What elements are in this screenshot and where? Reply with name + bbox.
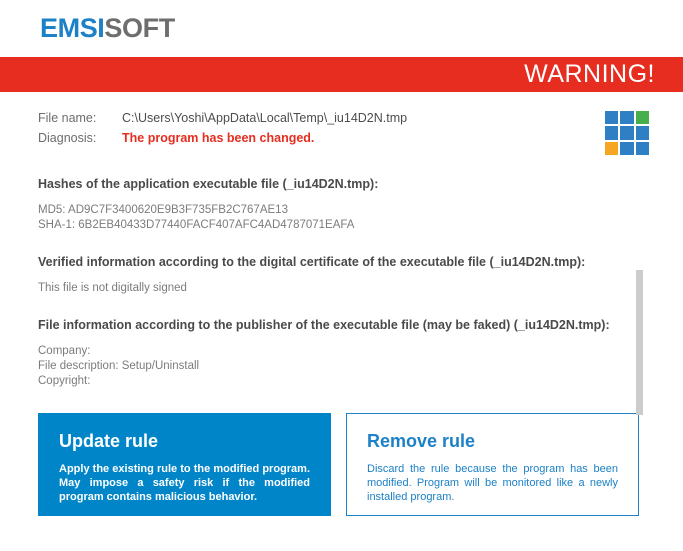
file-summary: File name: C:\Users\Yoshi\AppData\Local\… [0,92,683,155]
windows-tiles-icon [605,111,649,155]
warning-banner-label: WARNING! [524,62,655,87]
certificate-section: Verified information according to the di… [0,255,683,296]
remove-rule-button[interactable]: Remove rule Discard the rule because the… [346,413,639,516]
warning-banner: WARNING! [0,57,683,92]
logo-text-secondary: SOFT [104,13,174,43]
update-rule-button[interactable]: Update rule Apply the existing rule to t… [38,413,331,516]
logo-text-primary: EMSI [40,13,104,43]
file-name-row: File name: C:\Users\Yoshi\AppData\Local\… [38,109,605,127]
action-buttons: Update rule Apply the existing rule to t… [0,389,683,516]
diagnosis-label: Diagnosis: [38,129,122,147]
remove-rule-description: Discard the rule because the program has… [367,462,618,504]
hash-md5: MD5: AD9C7F3400620E9B3F735FB2C767AE13 [38,203,623,218]
update-rule-title: Update rule [59,432,310,452]
tile-2 [620,111,633,124]
tile-7 [605,142,618,155]
publisher-title: File information according to the publis… [38,318,623,332]
app-header: EMSISOFT [0,0,683,57]
publisher-description: File description: Setup/Uninstall [38,359,623,374]
file-name-value: C:\Users\Yoshi\AppData\Local\Temp\_iu14D… [122,109,407,127]
tile-5 [620,126,633,139]
tile-4 [605,126,618,139]
emsisoft-logo: EMSISOFT [40,15,175,42]
file-name-label: File name: [38,109,122,127]
update-rule-description: Apply the existing rule to the modified … [59,462,310,504]
diagnosis-value: The program has been changed. [122,129,314,147]
tile-9 [636,142,649,155]
remove-rule-title: Remove rule [367,432,618,452]
file-summary-rows: File name: C:\Users\Yoshi\AppData\Local\… [38,109,605,149]
certificate-title: Verified information according to the di… [38,255,623,269]
tile-6 [636,126,649,139]
certificate-status: This file is not digitally signed [38,281,623,296]
tile-1 [605,111,618,124]
publisher-copyright: Copyright: [38,374,623,389]
publisher-company: Company: [38,344,623,359]
hashes-section: Hashes of the application executable fil… [0,177,683,233]
publisher-section: File information according to the publis… [0,318,683,389]
detection-details: File name: C:\Users\Yoshi\AppData\Local\… [0,92,683,389]
hashes-title: Hashes of the application executable fil… [38,177,623,191]
scrollbar-thumb[interactable] [636,270,643,415]
diagnosis-row: Diagnosis: The program has been changed. [38,129,605,147]
hash-sha1: SHA-1: 6B2EB40433D77440FACF407AFC4AD4787… [38,218,623,233]
details-scrollbar[interactable] [636,270,643,415]
tile-3 [636,111,649,124]
tile-8 [620,142,633,155]
